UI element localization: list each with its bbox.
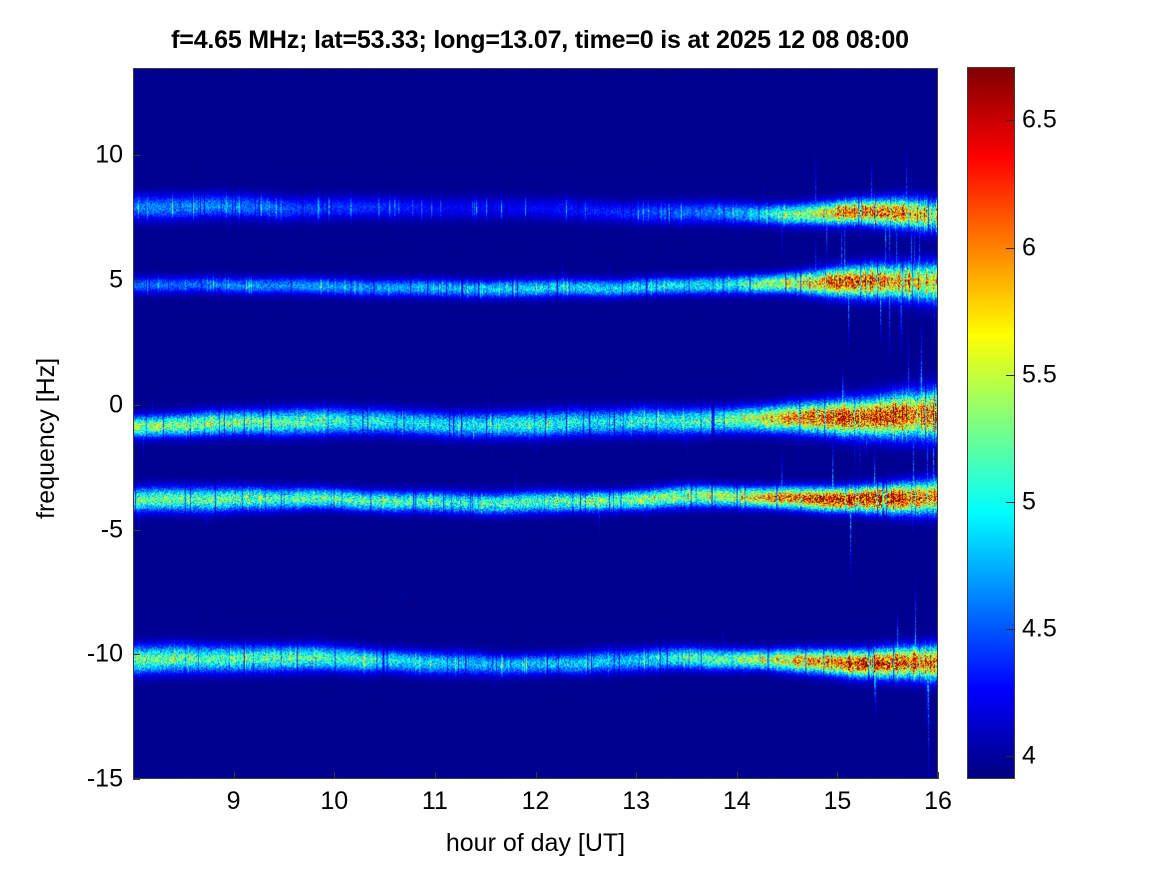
y-axis-tick: -5 [63,515,123,544]
x-axis-tick-mark [938,772,939,779]
y-axis-tick: 5 [63,266,123,295]
x-axis-tick-mark [334,772,335,779]
x-axis-tick: 15 [823,787,851,816]
y-axis-tick-mark [133,280,140,281]
x-axis-tick-mark [837,772,838,779]
y-axis-tick: -10 [63,640,123,669]
y-axis-tick-labels: 1050-5-10-15 [55,0,123,875]
spectrogram-heatmap [134,69,937,778]
colorbar-tick-mark [1006,629,1015,630]
colorbar-tick: 6 [1022,233,1036,262]
x-axis-label: hour of day [UT] [133,829,938,858]
colorbar-tick: 4 [1022,742,1036,771]
colorbar-tick-mark [1006,756,1015,757]
x-axis-tick: 12 [522,787,550,816]
y-axis-tick-mark [133,530,140,531]
colorbar-tick: 6.5 [1022,106,1057,135]
colorbar-tick-mark [1006,502,1015,503]
colorbar-tick-mark [1006,120,1015,121]
colorbar-tick: 4.5 [1022,614,1057,643]
x-axis-tick: 13 [622,787,650,816]
colorbar-tick: 5.5 [1022,360,1057,389]
x-axis-tick: 9 [227,787,241,816]
colorbar-gradient [968,68,1014,778]
x-axis-tick-mark [737,772,738,779]
colorbar[interactable] [967,67,1015,779]
x-axis-tick-mark [234,772,235,779]
figure-title: f=4.65 MHz; lat=53.33; long=13.07, time=… [0,26,1080,55]
x-axis-tick-mark [536,772,537,779]
y-axis-tick: 10 [63,141,123,170]
x-axis-tick: 14 [723,787,751,816]
colorbar-tick-mark [1006,248,1015,249]
spectrogram-figure: f=4.65 MHz; lat=53.33; long=13.07, time=… [0,0,1167,875]
x-axis-tick: 11 [422,787,448,816]
colorbar-tick: 5 [1022,487,1036,516]
y-axis-tick: 0 [63,390,123,419]
y-axis-tick-mark [133,405,140,406]
y-axis-tick-mark [133,155,140,156]
colorbar-tick-mark [1006,375,1015,376]
x-axis-tick: 10 [320,787,348,816]
x-axis-tick: 16 [924,787,952,816]
y-axis-tick-mark [133,654,140,655]
y-axis-tick: -15 [63,765,123,794]
x-axis-tick-mark [435,772,436,779]
x-axis-tick-mark [636,772,637,779]
y-axis-tick-mark [133,779,140,780]
heatmap-plot-area[interactable] [133,68,938,779]
